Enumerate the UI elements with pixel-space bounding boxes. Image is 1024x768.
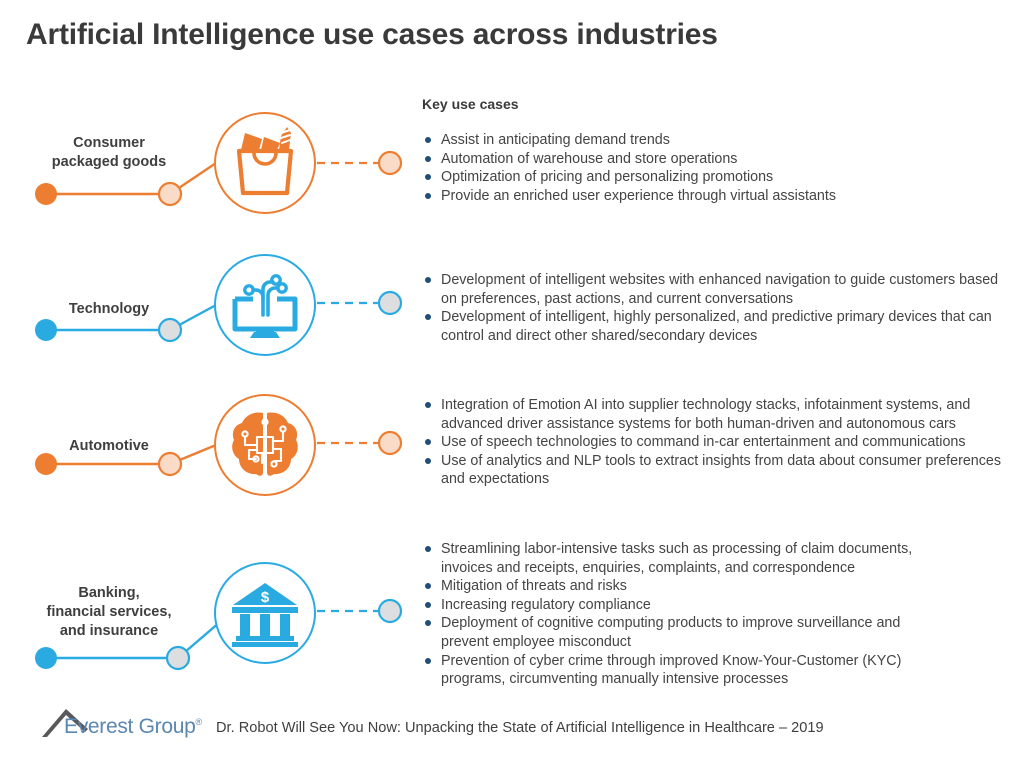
bullet-dot-icon [425,314,431,320]
industry-label-banking-financial-services-and-insurance: Banking, financial services, and insuran… [14,584,204,641]
bullet-dot-icon [425,156,431,162]
use-case-item: Provide an enriched user experience thro… [424,187,1014,206]
infographic-page: Artificial Intelligence use cases across… [0,0,1024,768]
industry-label-automotive: Automotive [14,437,204,456]
use-case-text: Automation of warehouse and store operat… [441,151,737,167]
use-case-text: Development of intelligent, highly perso… [441,309,992,344]
use-case-item: Use of speech technologies to command in… [424,433,1009,452]
use-case-text: Streamlining labor-intensive tasks such … [441,541,912,576]
bullet-dot-icon [425,658,431,664]
use-case-text: Prevention of cyber crime through improv… [441,653,901,688]
bullet-dot-icon [425,193,431,199]
bullet-dot-icon [425,439,431,445]
bullet-dot-icon [425,620,431,626]
use-case-item: Assist in anticipating demand trends [424,131,1014,150]
source-citation: Dr. Robot Will See You Now: Unpacking th… [216,720,824,736]
industry-label-line: financial services, [14,603,204,622]
use-case-item: Increasing regulatory compliance [424,596,936,615]
industry-label-line: and insurance [14,622,204,641]
bullet-dot-icon [425,583,431,589]
industry-label-line: Automotive [14,437,204,456]
use-case-item: Integration of Emotion AI into supplier … [424,396,1009,433]
industry-label-line: Technology [14,300,204,319]
industry-label-technology: Technology [14,300,204,319]
everest-group-wordmark: Everest Group® [64,715,202,739]
use-case-text: Provide an enriched user experience thro… [441,188,836,204]
use-case-text: Increasing regulatory compliance [441,597,651,613]
use-case-list-banking-financial-services-and-insurance: Streamlining labor-intensive tasks such … [424,540,936,689]
use-case-text: Use of speech technologies to command in… [441,434,966,450]
use-case-item: Mitigation of threats and risks [424,577,936,596]
use-case-text: Mitigation of threats and risks [441,578,627,594]
use-case-item: Deployment of cognitive computing produc… [424,614,936,651]
industry-label-line: packaged goods [14,153,204,172]
use-case-list-automotive: Integration of Emotion AI into supplier … [424,396,1009,489]
use-case-text: Development of intelligent websites with… [441,272,998,307]
use-case-item: Development of intelligent websites with… [424,271,1004,308]
use-case-item: Prevention of cyber crime through improv… [424,652,936,689]
bullet-dot-icon [425,174,431,180]
bullet-dot-icon [425,402,431,408]
industry-label-line: Consumer [14,134,204,153]
use-case-text: Assist in anticipating demand trends [441,132,670,148]
use-case-item: Streamlining labor-intensive tasks such … [424,540,936,577]
registered-mark: ® [196,717,202,727]
use-case-item: Use of analytics and NLP tools to extrac… [424,452,1009,489]
use-case-item: Automation of warehouse and store operat… [424,150,1014,169]
use-case-text: Deployment of cognitive computing produc… [441,615,900,650]
use-case-text: Integration of Emotion AI into supplier … [441,397,970,432]
use-case-text: Use of analytics and NLP tools to extrac… [441,453,1001,488]
use-case-item: Optimization of pricing and personalizin… [424,168,1014,187]
industry-label-consumer-packaged-goods: Consumer packaged goods [14,134,204,172]
use-case-item: Development of intelligent, highly perso… [424,308,1004,345]
use-case-list-consumer-packaged-goods: Assist in anticipating demand trends Aut… [424,131,1014,205]
industry-label-line: Banking, [14,584,204,603]
use-case-list-technology: Development of intelligent websites with… [424,271,1004,345]
use-case-text: Optimization of pricing and personalizin… [441,169,773,185]
bullet-dot-icon [425,458,431,464]
bullet-dot-icon [425,277,431,283]
bullet-dot-icon [425,137,431,143]
bullet-dot-icon [425,546,431,552]
brand-name: Everest Group [64,715,196,738]
bullet-dot-icon [425,602,431,608]
